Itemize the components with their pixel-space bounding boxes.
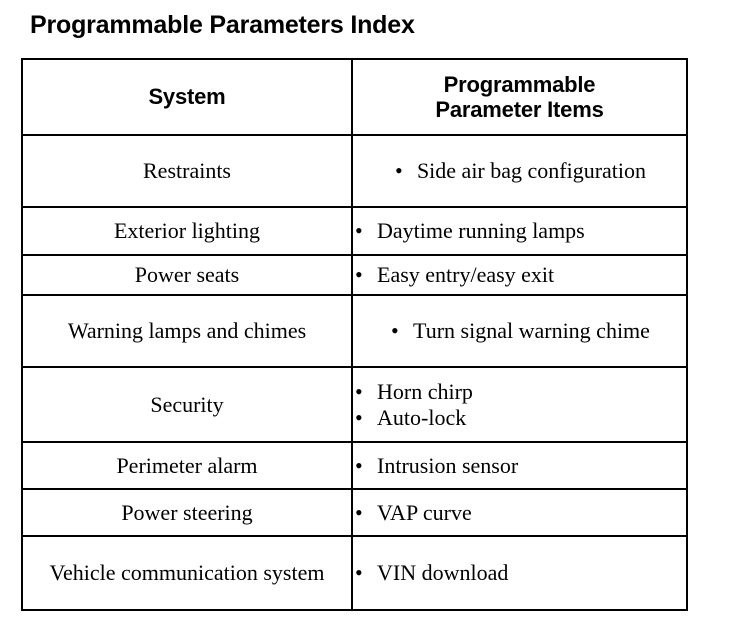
parameter-items-cell: • Horn chirp • Auto-lock (352, 367, 687, 442)
system-name-cell: Restraints (22, 135, 352, 207)
list-item: • VAP curve (353, 500, 472, 526)
parameter-item-list: • Intrusion sensor (353, 453, 518, 479)
parameter-items-cell: • Turn signal warning chime (352, 295, 687, 367)
bullet-icon: • (395, 158, 403, 184)
system-name-cell: Power seats (22, 255, 352, 295)
bullet-icon: • (355, 218, 363, 244)
parameter-items-cell: • Side air bag configuration (352, 135, 687, 207)
bullet-icon: • (391, 318, 399, 344)
table-row: Security • Horn chirp • Auto-lock (22, 367, 687, 442)
bullet-icon: • (355, 262, 363, 288)
table-row: Vehicle communication system • VIN downl… (22, 536, 687, 610)
list-item: • Easy entry/easy exit (353, 262, 554, 288)
list-item-label: Turn signal warning chime (413, 318, 650, 343)
table-row: Restraints • Side air bag configuration (22, 135, 687, 207)
system-name-cell: Warning lamps and chimes (22, 295, 352, 367)
column-header-line-1: Programmable (353, 72, 686, 97)
table-row: Power steering • VAP curve (22, 489, 687, 536)
system-name-cell: Vehicle communication system (22, 536, 352, 610)
list-item-label: Horn chirp (377, 379, 473, 404)
parameter-items-cell: • Daytime running lamps (352, 207, 687, 255)
list-item: • Turn signal warning chime (389, 318, 650, 344)
parameter-item-list: • VIN download (353, 560, 508, 586)
table-row: Exterior lighting • Daytime running lamp… (22, 207, 687, 255)
parameter-item-list: • Side air bag configuration (393, 158, 646, 184)
list-item-label: Daytime running lamps (377, 218, 585, 243)
bullet-icon: • (355, 500, 363, 526)
table-row: Power seats • Easy entry/easy exit (22, 255, 687, 295)
page-title: Programmable Parameters Index (30, 12, 415, 38)
list-item-label: Side air bag configuration (417, 158, 646, 183)
list-item-label: VIN download (377, 560, 508, 585)
system-name-cell: Security (22, 367, 352, 442)
programmable-parameters-table: System Programmable Parameter Items Rest… (21, 58, 688, 611)
bullet-icon: • (355, 453, 363, 479)
system-name-cell: Power steering (22, 489, 352, 536)
parameter-items-cell: • Easy entry/easy exit (352, 255, 687, 295)
list-item: • Daytime running lamps (353, 218, 585, 244)
list-item: • Horn chirp (353, 379, 473, 405)
bullet-icon: • (355, 379, 363, 405)
list-item: • Side air bag configuration (393, 158, 646, 184)
parameter-item-list: • Horn chirp • Auto-lock (353, 379, 473, 431)
parameter-item-list: • Turn signal warning chime (389, 318, 650, 344)
column-header-line-2: Parameter Items (353, 97, 686, 122)
list-item: • VIN download (353, 560, 508, 586)
parameter-items-cell: • Intrusion sensor (352, 442, 687, 489)
parameter-items-cell: • VAP curve (352, 489, 687, 536)
bullet-icon: • (355, 405, 363, 431)
list-item-label: Auto-lock (377, 405, 466, 430)
parameter-item-list: • VAP curve (353, 500, 472, 526)
column-header-system: System (22, 59, 352, 135)
system-name-cell: Exterior lighting (22, 207, 352, 255)
list-item: • Intrusion sensor (353, 453, 518, 479)
parameter-item-list: • Daytime running lamps (353, 218, 585, 244)
parameter-item-list: • Easy entry/easy exit (353, 262, 554, 288)
list-item-label: Intrusion sensor (377, 453, 518, 478)
table-row: Warning lamps and chimes • Turn signal w… (22, 295, 687, 367)
system-name-cell: Perimeter alarm (22, 442, 352, 489)
table-row: Perimeter alarm • Intrusion sensor (22, 442, 687, 489)
parameter-items-cell: • VIN download (352, 536, 687, 610)
table-header-row: System Programmable Parameter Items (22, 59, 687, 135)
list-item-label: VAP curve (377, 500, 472, 525)
list-item: • Auto-lock (353, 405, 473, 431)
list-item-label: Easy entry/easy exit (377, 262, 554, 287)
column-header-parameter-items: Programmable Parameter Items (352, 59, 687, 135)
bullet-icon: • (355, 560, 363, 586)
